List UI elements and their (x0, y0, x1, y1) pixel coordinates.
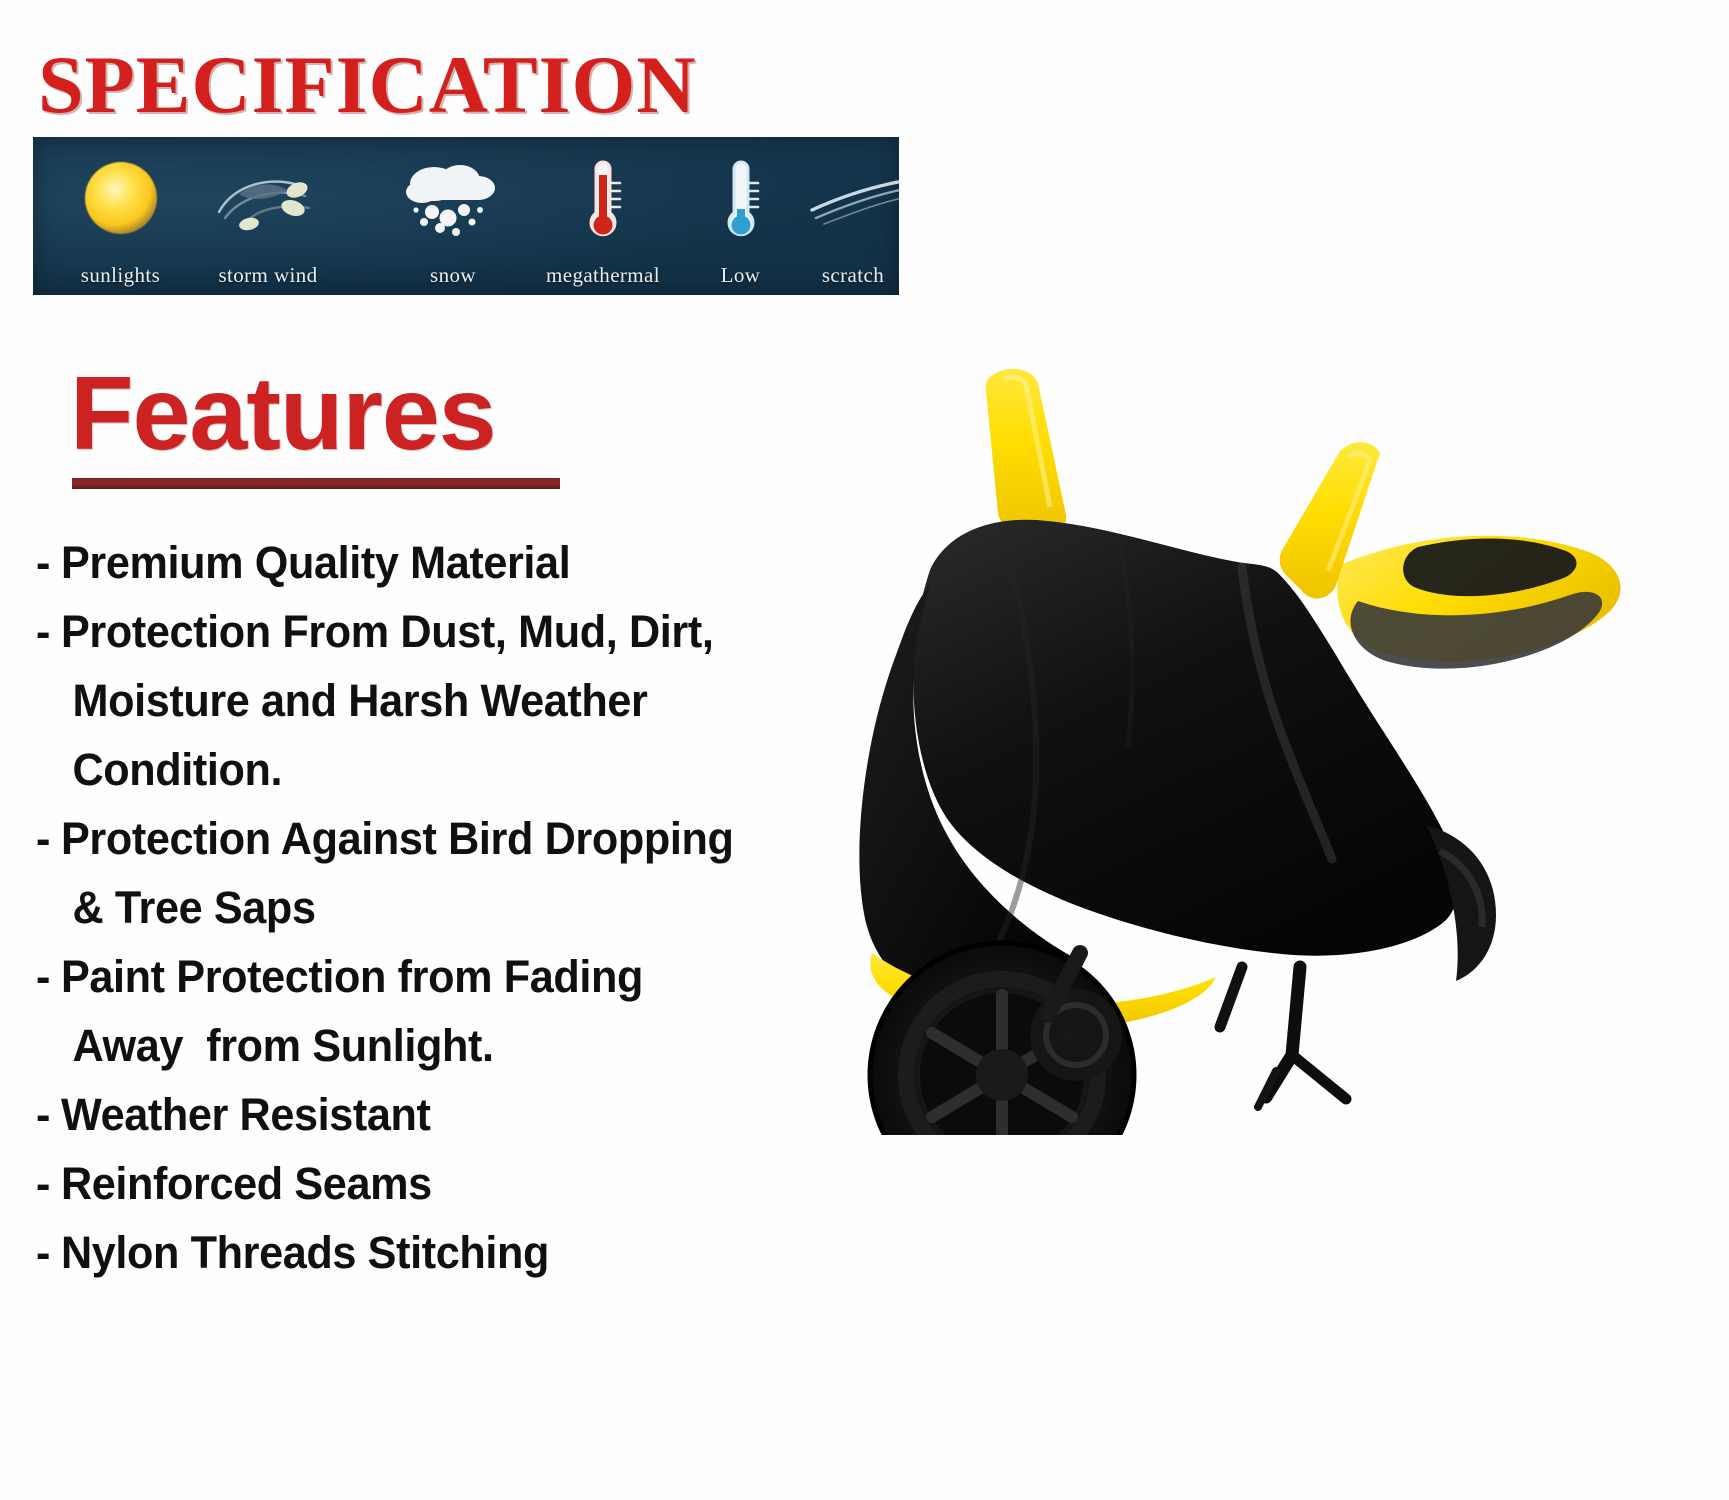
bullet-text: Premium Quality Material (61, 528, 570, 597)
feature-bullet: Moisture and Harsh Weather (36, 666, 881, 735)
bullet-text: Away from Sunlight. (61, 1011, 494, 1080)
storm-wind-icon (173, 137, 363, 263)
bullet-text: Reinforced Seams (61, 1149, 432, 1218)
spec-label-storm-wind: storm wind (218, 263, 317, 295)
bullet-text: Protection Against Bird Dropping (61, 804, 734, 873)
features-title: Features (70, 362, 496, 466)
features-underline (72, 478, 560, 489)
feature-bullet: & Tree Saps (36, 873, 881, 942)
feature-bullet: Away from Sunlight. (36, 1011, 881, 1080)
bullet-text: Paint Protection from Fading (61, 942, 643, 1011)
feature-bullet: -Reinforced Seams (36, 1149, 881, 1218)
bullet-dash: - (36, 528, 61, 597)
feature-bullet: Condition. (36, 735, 881, 804)
bullet-dash: - (36, 942, 61, 1011)
spec-label-megathermal: megathermal (546, 263, 660, 295)
bullet-dash: - (36, 1080, 61, 1149)
product-image (780, 355, 1720, 1135)
bullet-dash: - (36, 804, 61, 873)
bullet-text: Condition. (61, 735, 282, 804)
specification-title: SPECIFICATION (38, 44, 696, 126)
spec-item-storm-wind: storm wind (173, 137, 363, 295)
feature-bullet: -Protection From Dust, Mud, Dirt, (36, 597, 881, 666)
feature-bullet: -Premium Quality Material (36, 528, 881, 597)
bullet-text: Nylon Threads Stitching (61, 1218, 549, 1287)
cover-rear-panel (1337, 536, 1620, 669)
spec-item-scratch: scratch (778, 137, 928, 295)
side-stand (1220, 967, 1346, 1107)
bullet-text: & Tree Saps (61, 873, 316, 942)
bullet-dash: - (36, 1218, 61, 1287)
feature-bullet: -Paint Protection from Fading (36, 942, 881, 1011)
specification-banner: sunlights (33, 137, 899, 295)
bullet-text: Weather Resistant (61, 1080, 431, 1149)
feature-bullet: -Nylon Threads Stitching (36, 1218, 881, 1287)
spec-label-scratch: scratch (822, 263, 884, 295)
bullet-text: Moisture and Harsh Weather (61, 666, 647, 735)
bullet-dash: - (36, 1149, 61, 1218)
spec-label-sunlights: sunlights (81, 263, 160, 295)
feature-bullet: -Weather Resistant (36, 1080, 881, 1149)
spec-label-snow: snow (430, 263, 476, 295)
mirror-sleeve-left (985, 369, 1066, 535)
bullet-dash: - (36, 597, 61, 666)
scratch-icon (778, 137, 928, 263)
spec-label-low: Low (721, 263, 761, 295)
bullet-text: Protection From Dust, Mud, Dirt, (61, 597, 714, 666)
feature-bullet: -Protection Against Bird Dropping (36, 804, 881, 873)
